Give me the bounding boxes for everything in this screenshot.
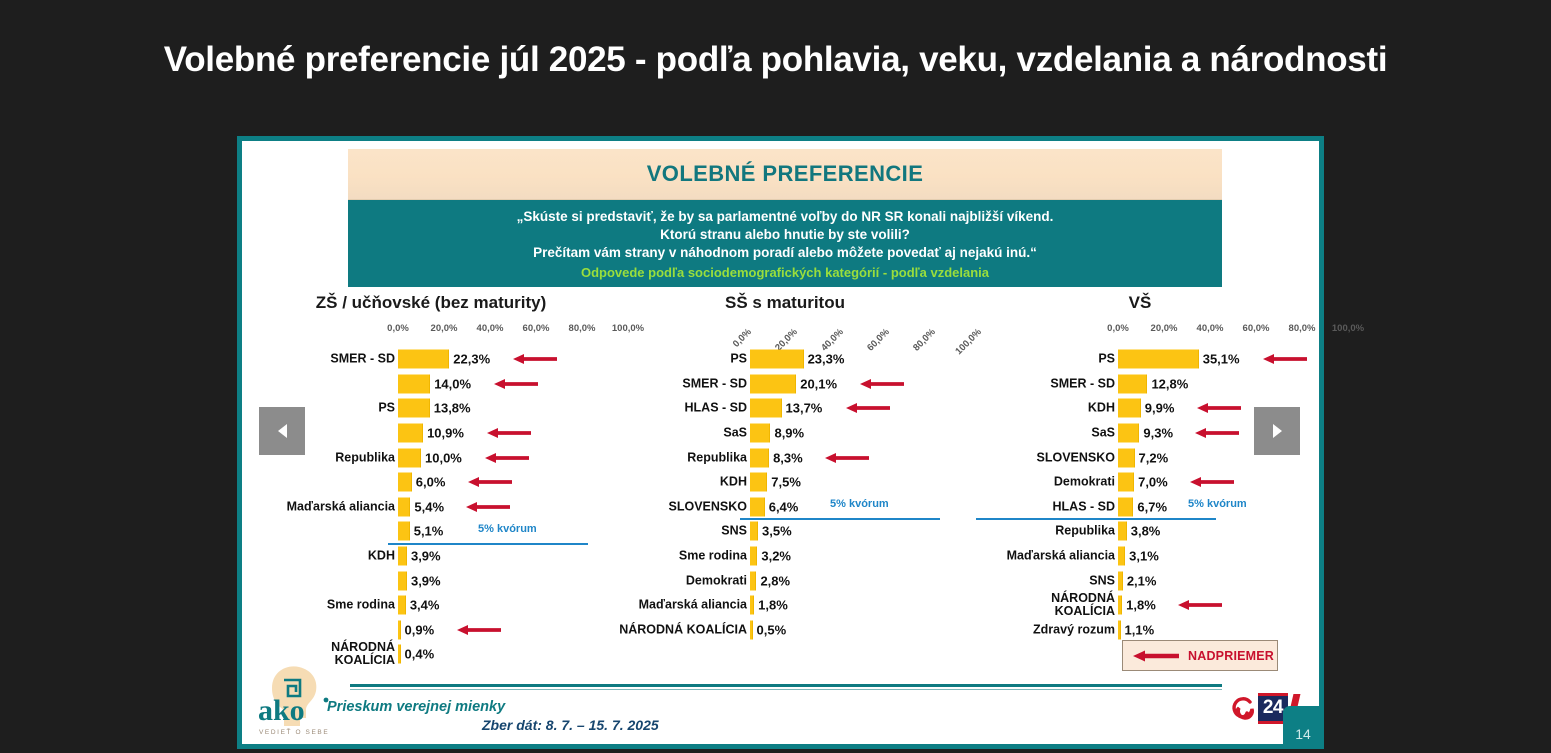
above-average-arrow-icon xyxy=(468,477,512,488)
chart-bar xyxy=(1118,497,1133,516)
bar-category-label: Republika xyxy=(335,451,395,464)
above-average-arrow-icon xyxy=(494,378,538,389)
axis-tick-label: 20,0% xyxy=(431,323,458,334)
chart-bar-row: NÁRODNÁKOALÍCIA1,8% xyxy=(966,593,1314,618)
chart-bar-row: 10,9% xyxy=(260,421,602,446)
bar-value-label: 14,0% xyxy=(434,376,471,391)
slide-header-title: VOLEBNÉ PREFERENCIE xyxy=(348,149,1222,200)
chart-zs-ucnovske: ZŠ / učňovské (bez maturity)0,0%20,0%40,… xyxy=(260,293,602,673)
footer-divider xyxy=(350,684,1222,687)
bar-category-label: Demokrati xyxy=(686,574,747,587)
bar-value-label: 9,3% xyxy=(1143,426,1173,441)
chart-bar xyxy=(1118,399,1141,418)
bar-value-label: 7,5% xyxy=(771,475,801,490)
chart-bar-row: Republika3,8% xyxy=(966,519,1314,544)
slide-question-banner: „Skúste si predstaviť, že by sa parlamen… xyxy=(348,200,1222,287)
bar-value-label: 7,0% xyxy=(1138,475,1168,490)
bar-value-label: 8,9% xyxy=(774,426,804,441)
quorum-threshold-label: 5% kvórum xyxy=(830,498,889,510)
chart-bar-row: SMER - SD22,3% xyxy=(260,347,602,372)
bar-value-label: 2,8% xyxy=(760,573,790,588)
bar-category-label: Sme rodina xyxy=(679,550,747,563)
page-title: Volebné preferencie júl 2025 - podľa poh… xyxy=(0,40,1551,80)
bar-category-label: Sme rodina xyxy=(327,599,395,612)
chart-bar xyxy=(750,350,804,369)
chart-bar-row: Maďarská aliancia5,4% xyxy=(260,495,602,520)
above-average-arrow-icon xyxy=(466,501,510,512)
bar-category-label: SLOVENSKO xyxy=(1037,451,1116,464)
chart-bar xyxy=(1118,571,1123,590)
bar-category-label: SNS xyxy=(721,525,747,538)
bar-value-label: 13,7% xyxy=(786,401,823,416)
question-line-2: Ktorú stranu alebo hnutie by ste volili? xyxy=(660,226,910,244)
svg-text:ako: ako xyxy=(258,694,305,727)
chart-bar-row: PS13,8% xyxy=(260,396,602,421)
chart-bar xyxy=(398,473,412,492)
axis-tick-label: 60,0% xyxy=(523,323,550,334)
chart-title: ZŠ / učňovské (bez maturity) xyxy=(260,293,602,313)
bar-value-label: 3,4% xyxy=(410,598,440,613)
bar-value-label: 3,5% xyxy=(762,524,792,539)
bar-category-label: SaS xyxy=(723,427,747,440)
bar-category-label: KDH xyxy=(720,476,747,489)
chart-bar-row: SNS2,1% xyxy=(966,568,1314,593)
above-average-arrow-icon xyxy=(457,624,501,635)
chart-ss-s-maturitou: SŠ s maturitou0,0%20,0%40,0%60,0%80,0%10… xyxy=(614,293,956,673)
chart-title: VŠ xyxy=(966,293,1314,313)
bar-value-label: 1,8% xyxy=(1126,598,1156,613)
bar-category-label: Republika xyxy=(1055,525,1115,538)
bar-category-label: PS xyxy=(378,402,395,415)
bar-value-label: 22,3% xyxy=(453,352,490,367)
chart-bar xyxy=(1118,596,1122,615)
bar-value-label: 12,8% xyxy=(1151,376,1188,391)
chart-bar-row: HLAS - SD6,7% xyxy=(966,495,1314,520)
bar-value-label: 0,4% xyxy=(405,647,435,662)
bar-value-label: 3,8% xyxy=(1131,524,1161,539)
axis-tick-label: 80,0% xyxy=(1289,323,1316,334)
bar-value-label: 0,5% xyxy=(757,622,787,637)
bar-value-label: 1,8% xyxy=(758,598,788,613)
bar-category-label: KDH xyxy=(1088,402,1115,415)
chart-bar xyxy=(398,374,430,393)
chart-bar xyxy=(398,424,423,443)
chart-bar xyxy=(1118,374,1147,393)
chart-bar xyxy=(398,399,430,418)
chart-bar-row: Sme rodina3,2% xyxy=(614,544,956,569)
axis-tick-label: 0,0% xyxy=(387,323,409,334)
question-line-3: Prečítam vám strany v náhodnom poradí al… xyxy=(533,244,1037,262)
question-subtitle: Odpovede podľa sociodemografických kateg… xyxy=(581,264,989,282)
ako-logo-sub: VEDIEŤ O SEBE xyxy=(259,727,329,736)
chart-bar xyxy=(1118,473,1134,492)
bar-value-label: 3,9% xyxy=(411,549,441,564)
bar-value-label: 3,9% xyxy=(411,573,441,588)
chart-bar xyxy=(750,497,765,516)
axis-tick-label: 80,0% xyxy=(569,323,596,334)
bar-category-label: NÁRODNÁ KOALÍCIA xyxy=(619,623,747,636)
bar-value-label: 10,9% xyxy=(427,426,464,441)
quorum-threshold-label: 5% kvórum xyxy=(1188,498,1247,510)
chart-bar xyxy=(1118,424,1139,443)
x-axis: 0,0%20,0%40,0%60,0%80,0%100,0% xyxy=(614,323,956,345)
chart-bar-row: PS35,1% xyxy=(966,347,1314,372)
chart-bar xyxy=(750,399,782,418)
chart-bar xyxy=(1118,547,1125,566)
bar-category-label: Maďarská aliancia xyxy=(639,599,747,612)
x-axis: 0,0%20,0%40,0%60,0%80,0%100,0% xyxy=(260,323,602,345)
plot-area: PS23,3%SMER - SD20,1%HLAS - SD13,7%SaS8,… xyxy=(614,347,956,642)
bar-value-label: 7,2% xyxy=(1139,450,1169,465)
chart-bar xyxy=(398,571,407,590)
arrow-left-icon xyxy=(1133,650,1179,662)
axis-tick-label: 40,0% xyxy=(477,323,504,334)
chart-bar xyxy=(1118,448,1135,467)
chart-bar-row: 6,0% xyxy=(260,470,602,495)
above-average-arrow-icon xyxy=(860,378,904,389)
plot-area: SMER - SD22,3%14,0%PS13,8%10,9%Republika… xyxy=(260,347,602,667)
chart-vs: VŠ0,0%20,0%40,0%60,0%80,0%100,0%PS35,1%S… xyxy=(966,293,1314,673)
chart-bar xyxy=(1118,350,1199,369)
chart-bar-row: NÁRODNÁ KOALÍCIA0,5% xyxy=(614,618,956,643)
bar-category-label: SLOVENSKO xyxy=(669,500,748,513)
chart-bar-row: HLAS - SD13,7% xyxy=(614,396,956,421)
axis-tick-label: 100,0% xyxy=(1332,323,1364,334)
chart-bar-row: 3,9% xyxy=(260,568,602,593)
bar-value-label: 3,1% xyxy=(1129,549,1159,564)
footer-tagline: Prieskum verejnej mienky xyxy=(327,699,505,715)
chart-bar xyxy=(750,424,770,443)
bar-value-label: 3,2% xyxy=(761,549,791,564)
chart-title: SŠ s maturitou xyxy=(614,293,956,313)
chart-bar-row: SaS8,9% xyxy=(614,421,956,446)
above-average-arrow-icon xyxy=(1197,403,1241,414)
chart-bar-row: 0,9% xyxy=(260,618,602,643)
bar-category-label: SMER - SD xyxy=(330,353,395,366)
legend-nadpriemer: NADPRIEMER xyxy=(1122,640,1278,671)
chart-bar xyxy=(1118,620,1121,639)
bar-category-label: PS xyxy=(730,353,747,366)
above-average-arrow-icon xyxy=(1263,354,1307,365)
chart-bar-row: Republika10,0% xyxy=(260,445,602,470)
chart-bar xyxy=(398,497,410,516)
slide-content: VOLEBNÉ PREFERENCIE „Skúste si predstavi… xyxy=(242,141,1319,744)
quorum-threshold-label: 5% kvórum xyxy=(478,523,537,535)
chart-bar xyxy=(750,620,753,639)
page-number-badge: 14 xyxy=(1283,706,1323,748)
bar-category-label: HLAS - SD xyxy=(1053,500,1116,513)
legend-nadpriemer-label: NADPRIEMER xyxy=(1188,649,1274,663)
plot-area: PS35,1%SMER - SD12,8%KDH9,9%SaS9,3%SLOVE… xyxy=(966,347,1314,642)
chart-bar xyxy=(750,571,756,590)
chart-bar xyxy=(750,547,757,566)
chart-bar xyxy=(398,645,401,664)
chart-bar xyxy=(398,596,406,615)
chart-bar-row: SNS3,5% xyxy=(614,519,956,544)
bar-category-label: HLAS - SD xyxy=(685,402,748,415)
bar-category-label: PS xyxy=(1098,353,1115,366)
above-average-arrow-icon xyxy=(1190,477,1234,488)
bar-value-label: 1,1% xyxy=(1125,622,1155,637)
bar-value-label: 6,7% xyxy=(1137,499,1167,514)
question-line-1: „Skúste si predstaviť, že by sa parlamen… xyxy=(517,208,1054,226)
chart-bar-row: Maďarská aliancia1,8% xyxy=(614,593,956,618)
quorum-threshold-line xyxy=(976,518,1216,520)
chevron-right-icon xyxy=(1273,424,1282,438)
spiral-icon xyxy=(1228,694,1258,724)
quorum-threshold-line xyxy=(740,518,940,520)
slide-frame: VOLEBNÉ PREFERENCIE „Skúste si predstavi… xyxy=(238,137,1323,748)
bar-category-label: Maďarská aliancia xyxy=(287,500,395,513)
chart-bar xyxy=(398,547,407,566)
quorum-threshold-line xyxy=(388,543,588,545)
above-average-arrow-icon xyxy=(513,354,557,365)
chart-bar xyxy=(398,448,421,467)
bar-value-label: 2,1% xyxy=(1127,573,1157,588)
bar-value-label: 6,0% xyxy=(416,475,446,490)
footer-divider-thin xyxy=(350,689,1222,690)
chart-bar-row: SMER - SD12,8% xyxy=(966,372,1314,397)
axis-tick-label: 20,0% xyxy=(1151,323,1178,334)
bar-value-label: 9,9% xyxy=(1145,401,1175,416)
carousel-prev-button[interactable] xyxy=(259,407,305,455)
above-average-arrow-icon xyxy=(846,403,890,414)
bar-category-label: SNS xyxy=(1089,574,1115,587)
chart-bar-row: 14,0% xyxy=(260,372,602,397)
chart-bar-row: Demokrati2,8% xyxy=(614,568,956,593)
chart-bar xyxy=(398,522,410,541)
x-axis: 0,0%20,0%40,0%60,0%80,0%100,0% xyxy=(966,323,1314,345)
bar-value-label: 0,9% xyxy=(405,622,435,637)
chart-bar-row: 5,1% xyxy=(260,519,602,544)
bar-category-label: SMER - SD xyxy=(682,377,747,390)
footer-date: Zber dát: 8. 7. – 15. 7. 2025 xyxy=(482,717,659,733)
chart-bar-row: KDH3,9% xyxy=(260,544,602,569)
axis-tick-label: 60,0% xyxy=(1243,323,1270,334)
axis-tick-label: 0,0% xyxy=(1107,323,1129,334)
bar-category-label: Maďarská aliancia xyxy=(1007,550,1115,563)
bar-category-label: Zdravý rozum xyxy=(1033,623,1115,636)
bar-category-label: Demokrati xyxy=(1054,476,1115,489)
bar-category-label: Republika xyxy=(687,451,747,464)
bar-value-label: 10,0% xyxy=(425,450,462,465)
bar-value-label: 6,4% xyxy=(769,499,799,514)
chart-bar xyxy=(398,350,449,369)
bar-value-label: 23,3% xyxy=(808,352,845,367)
chart-bar-row: Republika8,3% xyxy=(614,445,956,470)
chart-bar-row: Zdravý rozum1,1% xyxy=(966,618,1314,643)
above-average-arrow-icon xyxy=(825,452,869,463)
axis-tick-label: 40,0% xyxy=(1197,323,1224,334)
chart-bar-row: Maďarská aliancia3,1% xyxy=(966,544,1314,569)
bar-value-label: 5,1% xyxy=(414,524,444,539)
bar-category-label: SaS xyxy=(1091,427,1115,440)
chart-bar-row: SLOVENSKO6,4% xyxy=(614,495,956,520)
chart-bar-row: PS23,3% xyxy=(614,347,956,372)
chart-bar-row: SMER - SD20,1% xyxy=(614,372,956,397)
chart-bar-row: KDH7,5% xyxy=(614,470,956,495)
chart-bar xyxy=(1118,522,1127,541)
bar-value-label: 8,3% xyxy=(773,450,803,465)
bar-value-label: 20,1% xyxy=(800,376,837,391)
above-average-arrow-icon xyxy=(1195,428,1239,439)
chart-bar xyxy=(398,620,401,639)
chart-bar xyxy=(750,522,758,541)
above-average-arrow-icon xyxy=(1178,600,1222,611)
bar-category-label: SMER - SD xyxy=(1050,377,1115,390)
bar-category-label: KDH xyxy=(368,550,395,563)
chart-bar xyxy=(750,448,769,467)
chart-bar-row: Demokrati7,0% xyxy=(966,470,1314,495)
bar-value-label: 35,1% xyxy=(1203,352,1240,367)
chart-bar-row: Sme rodina3,4% xyxy=(260,593,602,618)
slide-header-title-text: VOLEBNÉ PREFERENCIE xyxy=(647,161,924,187)
above-average-arrow-icon xyxy=(487,428,531,439)
bar-value-label: 13,8% xyxy=(434,401,471,416)
chart-bar xyxy=(750,473,767,492)
bar-value-label: 5,4% xyxy=(414,499,444,514)
above-average-arrow-icon xyxy=(485,452,529,463)
carousel-next-button[interactable] xyxy=(1254,407,1300,455)
bar-category-label: NÁRODNÁKOALÍCIA xyxy=(331,641,395,667)
chart-bar xyxy=(750,374,796,393)
chevron-left-icon xyxy=(278,424,287,438)
bar-category-label: NÁRODNÁKOALÍCIA xyxy=(1051,592,1115,618)
chart-bar xyxy=(750,596,754,615)
